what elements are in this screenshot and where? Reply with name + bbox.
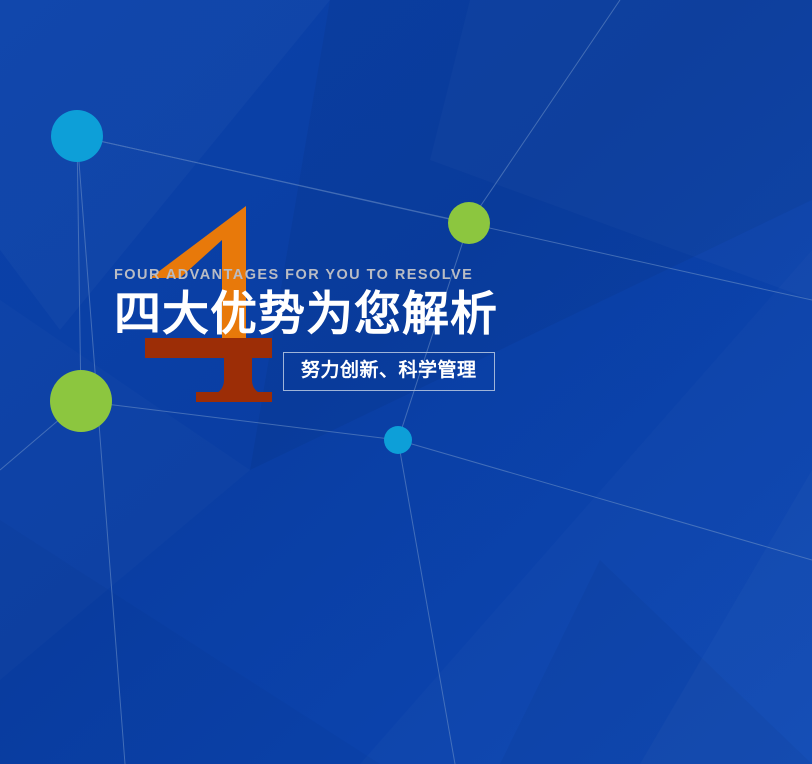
headline-eyebrow: FOUR ADVANTAGES FOR YOU TO RESOLVE [114,268,674,283]
headline-block: FOUR ADVANTAGES FOR YOU TO RESOLVE 四大优势为… [114,268,674,339]
tagline-text: 努力创新、科学管理 [301,360,477,381]
tagline-box: 努力创新、科学管理 [283,352,495,391]
promo-banner: FOUR ADVANTAGES FOR YOU TO RESOLVE 四大优势为… [0,0,812,764]
page-title: 四大优势为您解析 [114,289,674,340]
numeral-four-base-stroke [145,338,272,402]
